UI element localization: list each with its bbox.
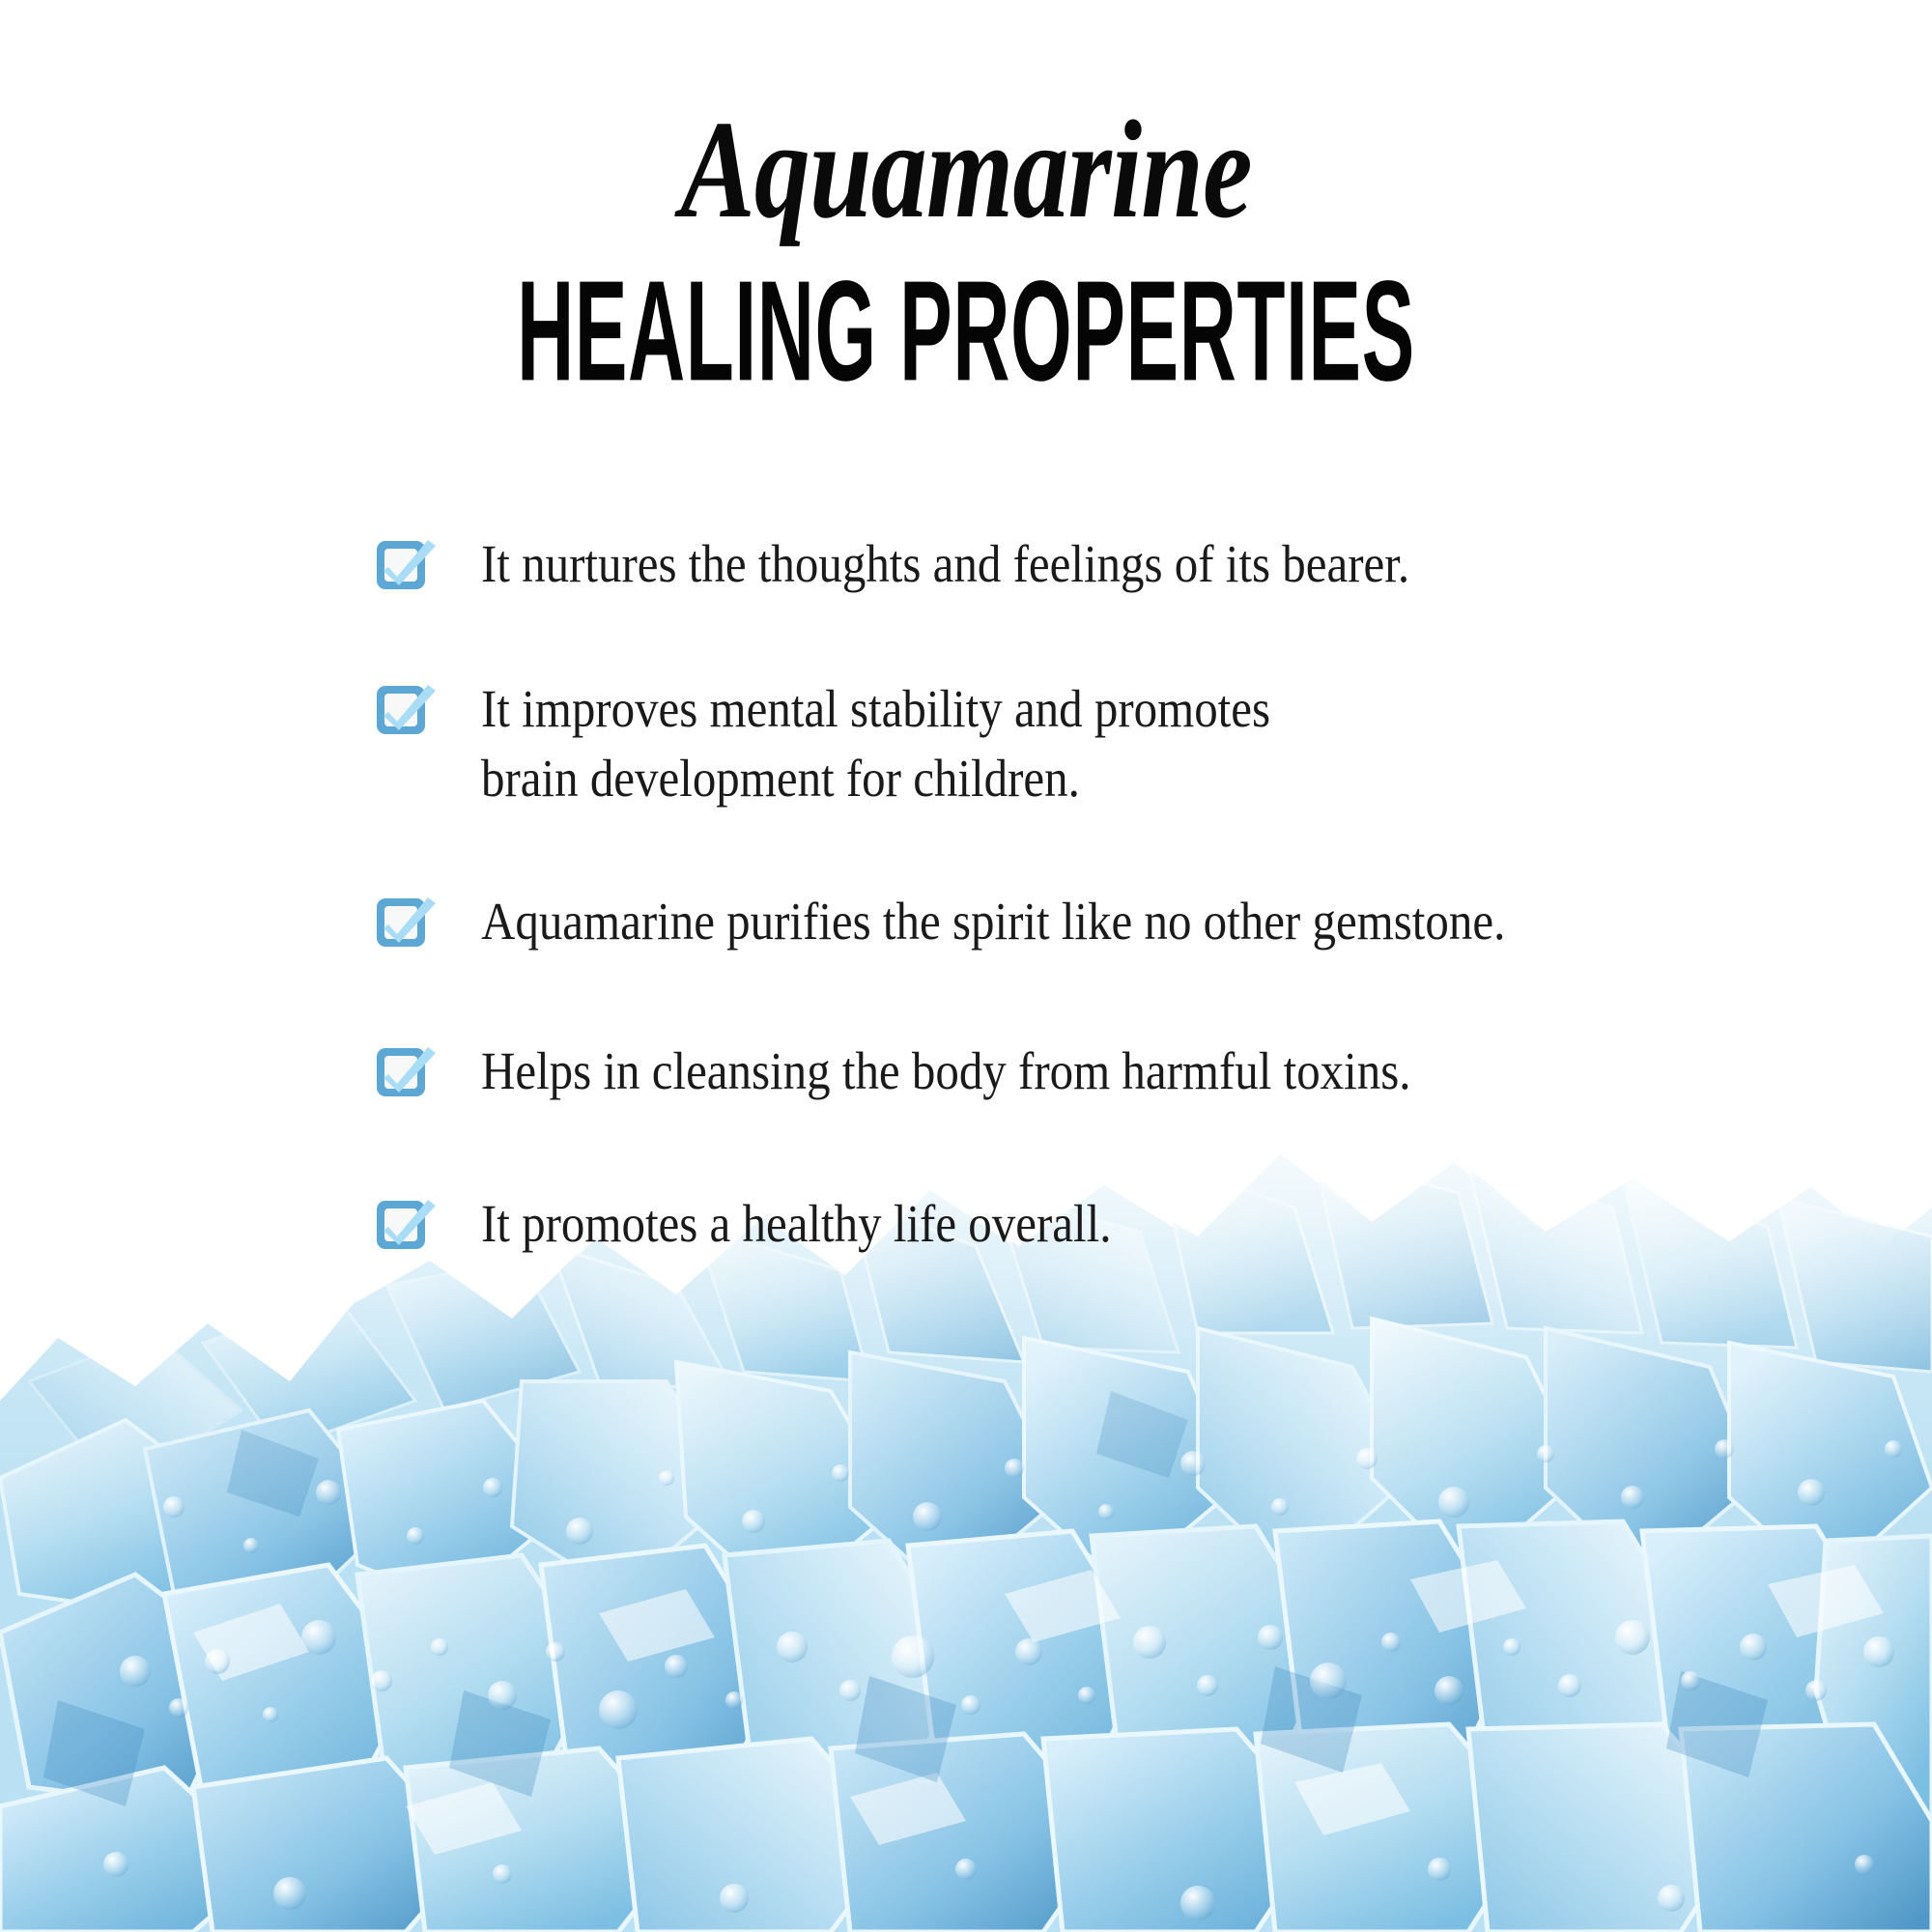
checked-checkbox-icon: [375, 1195, 439, 1255]
list-item-label: It promotes a healthy life overall.: [481, 1189, 1676, 1259]
checked-checkbox-icon: [375, 1042, 439, 1102]
page-title: Aquamarine: [193, 100, 1739, 241]
healing-properties-list: It nurtures the thoughts and feelings of…: [375, 529, 1824, 1305]
checked-checkbox-icon: [375, 535, 439, 595]
checked-checkbox-icon: [375, 893, 439, 952]
poster-canvas: Aquamarine HEALING PROPERTIES It nurture…: [0, 0, 1932, 1932]
list-item-label: It improves mental stability and promote…: [481, 674, 1676, 812]
list-item: Aquamarine purifies the spirit like no o…: [375, 887, 1824, 1037]
header: Aquamarine HEALING PROPERTIES: [0, 100, 1932, 387]
checked-checkbox-icon: [375, 680, 439, 740]
list-item: It promotes a healthy life overall.: [375, 1189, 1824, 1305]
list-item-label: Aquamarine purifies the spirit like no o…: [481, 887, 1676, 956]
list-item: It improves mental stability and promote…: [375, 674, 1824, 887]
list-item: Helps in cleansing the body from harmful…: [375, 1037, 1824, 1189]
list-item-label: It nurtures the thoughts and feelings of…: [481, 529, 1676, 599]
list-item: It nurtures the thoughts and feelings of…: [375, 529, 1824, 674]
list-item-label: Helps in cleansing the body from harmful…: [481, 1037, 1676, 1106]
page-subtitle: HEALING PROPERTIES: [367, 260, 1565, 403]
